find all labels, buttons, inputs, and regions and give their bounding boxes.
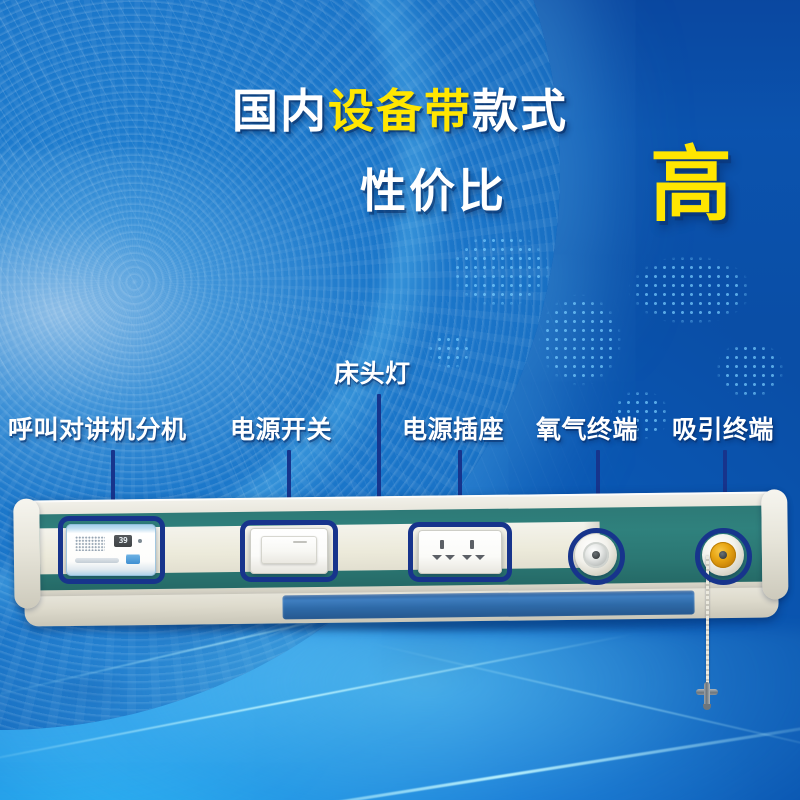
callout-label-intercom: 呼叫对讲机分机	[8, 418, 187, 443]
callout-label-power-socket: 电源插座	[402, 418, 504, 443]
unit-end-cap-right	[761, 489, 788, 599]
intercom-display: 39	[114, 535, 132, 547]
headline-line-1: 国内设备带款式	[0, 88, 800, 134]
headline-emphasis: 高	[650, 145, 732, 227]
rocker-switch-icon[interactable]	[261, 536, 317, 564]
pull-cord-handle[interactable]	[696, 682, 718, 708]
status-led-icon	[138, 539, 142, 543]
socket-pin-slot	[440, 540, 444, 549]
socket-pin-hole	[462, 555, 472, 560]
lamp-pull-cord[interactable]	[706, 556, 709, 686]
headline-line-2: 性价比	[360, 168, 507, 214]
socket-pin-hole	[432, 555, 442, 560]
headline-block: 国内设备带款式 性价比 高	[0, 0, 800, 250]
intercom-slot	[75, 558, 119, 563]
callout-label-oxygen-terminal: 氧气终端	[536, 418, 638, 443]
nurse-call-intercom-device[interactable]: 39	[66, 524, 156, 576]
unit-blue-rail	[282, 590, 694, 619]
socket-pin-hole	[445, 555, 455, 560]
callout-label-bed-lamp: 床头灯	[334, 362, 411, 387]
oxygen-port-core	[592, 551, 600, 559]
oxygen-terminal-port[interactable]	[575, 534, 617, 576]
headline-part-1: 国内	[232, 85, 328, 137]
power-socket-device[interactable]	[418, 530, 502, 574]
callout-label-power-switch: 电源开关	[230, 418, 332, 443]
oxygen-port-inner	[583, 542, 609, 568]
promo-banner: 国内设备带款式 性价比 高 呼叫对讲机分机 电源开关 床头灯 电源插座 氧气终端…	[0, 0, 800, 800]
suction-port-inner	[710, 542, 736, 568]
callout-label-suction-terminal: 吸引终端	[672, 418, 774, 443]
socket-pin-hole	[475, 555, 485, 560]
socket-pin-slot	[470, 540, 474, 549]
power-switch-device[interactable]	[250, 528, 328, 574]
unit-end-cap-left	[13, 498, 40, 608]
headline-part-3: 款式	[472, 85, 568, 137]
speaker-grille-icon	[75, 536, 105, 551]
intercom-call-button[interactable]	[126, 554, 140, 564]
headline-part-2: 设备带	[328, 85, 472, 137]
suction-port-core	[719, 551, 727, 559]
